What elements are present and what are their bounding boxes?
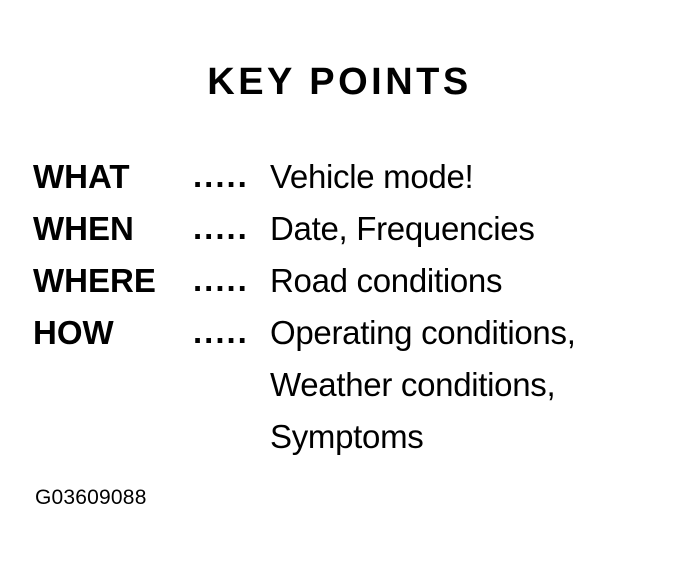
key-point-definition: Operating conditions,	[270, 316, 653, 349]
key-point-definition-continued: Weather conditions,	[270, 368, 653, 401]
key-points-list: WHAT ..... Vehicle mode! WHEN ..... Date…	[33, 160, 653, 472]
key-point-definition-continued: Symptoms	[270, 420, 653, 453]
key-point-continuation-row: Weather conditions,	[33, 368, 653, 420]
figure-code: G03609088	[35, 487, 147, 508]
leader-dots: .....	[193, 159, 270, 192]
key-point-row-where: WHERE ..... Road conditions	[33, 264, 653, 316]
key-point-definition: Vehicle mode!	[270, 160, 653, 193]
key-point-term: WHAT	[33, 160, 193, 193]
key-point-term: WHEN	[33, 212, 193, 245]
key-point-definition: Date, Frequencies	[270, 212, 653, 245]
leader-dots: .....	[193, 315, 270, 348]
leader-dots: .....	[193, 263, 270, 296]
key-point-row-when: WHEN ..... Date, Frequencies	[33, 212, 653, 264]
page-title: KEY POINTS	[0, 63, 679, 101]
figure-page: KEY POINTS WHAT ..... Vehicle mode! WHEN…	[0, 0, 679, 587]
key-point-row-how: HOW ..... Operating conditions,	[33, 316, 653, 368]
key-point-row-what: WHAT ..... Vehicle mode!	[33, 160, 653, 212]
key-point-term: HOW	[33, 316, 193, 349]
key-point-term: WHERE	[33, 264, 193, 297]
leader-dots: .....	[193, 211, 270, 244]
key-point-continuation-row: Symptoms	[33, 420, 653, 472]
key-point-definition: Road conditions	[270, 264, 653, 297]
